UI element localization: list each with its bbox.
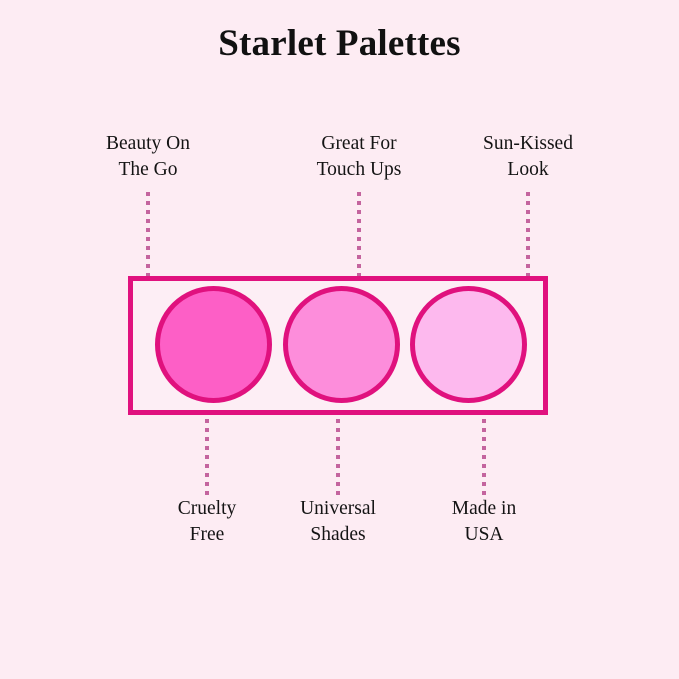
swatch-dark-pink[interactable] <box>155 286 272 403</box>
feature-label-sun-kissed-look: Sun-Kissed Look <box>428 131 628 182</box>
connector-line-universal-shades <box>336 419 340 497</box>
swatch-medium-pink[interactable] <box>283 286 400 403</box>
connector-line-made-in-usa <box>482 419 486 497</box>
palette-swatch-group <box>128 276 548 415</box>
feature-label-beauty-on-the-go: Beauty On The Go <box>48 131 248 182</box>
connector-line-great-for-touch-ups <box>357 192 361 276</box>
swatch-light-pink[interactable] <box>410 286 527 403</box>
infographic-canvas: Starlet Palettes Beauty On The Go Great … <box>0 0 679 679</box>
connector-line-cruelty-free <box>205 419 209 497</box>
connector-line-beauty-on-the-go <box>146 192 150 276</box>
page-title: Starlet Palettes <box>0 22 679 66</box>
feature-label-made-in-usa: Made in USA <box>384 496 584 547</box>
connector-line-sun-kissed-look <box>526 192 530 276</box>
